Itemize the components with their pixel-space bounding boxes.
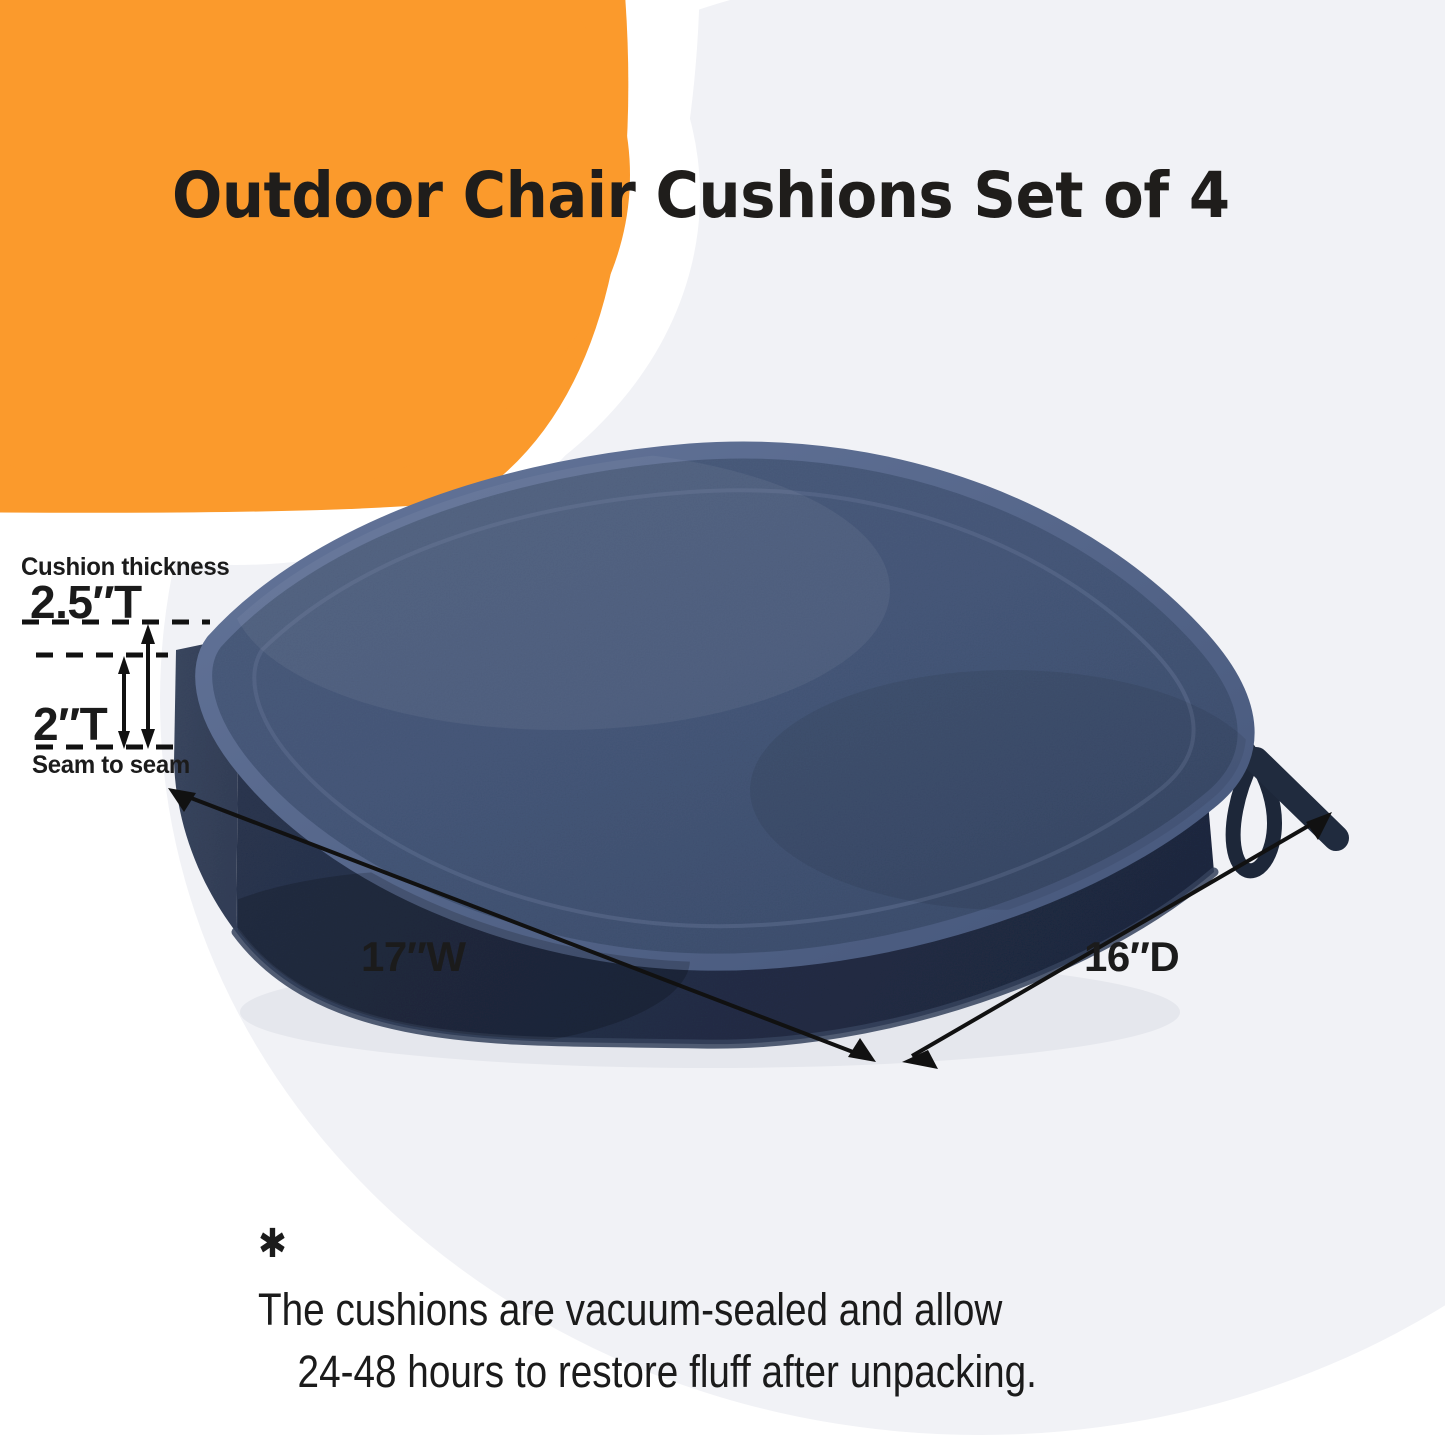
product-infographic: Outdoor Chair Cushions Set of 4 Cushion … <box>0 0 1445 1445</box>
top-highlight <box>230 450 890 730</box>
width-dimension-label: 17″W <box>361 935 465 979</box>
note-text: The cushions are vacuum-sealed and allow… <box>258 1279 1152 1403</box>
depth-dimension-label: 16″D <box>1084 935 1179 979</box>
arrowhead-seam-up <box>118 656 130 674</box>
cushion-thickness-value: 2.5″T <box>30 578 142 626</box>
asterisk-icon: ✱ <box>258 1217 298 1272</box>
page-title: Outdoor Chair Cushions Set of 4 <box>172 163 1230 229</box>
arrowhead-thickness-down <box>141 729 155 749</box>
seam-to-seam-value: 2″T <box>33 700 107 748</box>
note-line-2: 24-48 hours to restore fluff after unpac… <box>258 1341 1152 1403</box>
packaging-note: ✱The cushions are vacuum-sealed and allo… <box>258 1217 1084 1403</box>
arrowhead-thickness-up <box>141 624 155 644</box>
note-line-1: The cushions are vacuum-sealed and allow <box>258 1279 1152 1341</box>
seam-to-seam-caption: Seam to seam <box>32 752 190 778</box>
